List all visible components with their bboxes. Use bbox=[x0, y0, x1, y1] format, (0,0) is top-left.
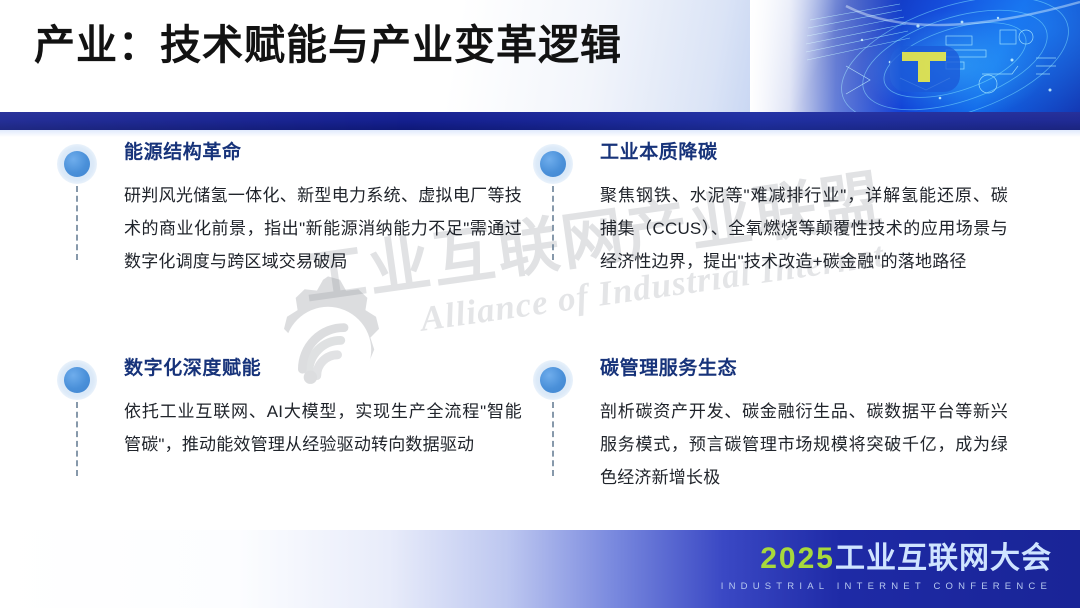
content-block-carbon-service-ecosystem: 碳管理服务生态 剖析碳资产开发、碳金融衍生品、碳数据平台等新兴服务模式，预言碳管… bbox=[528, 358, 1008, 494]
block-body: 碳管理服务生态 剖析碳资产开发、碳金融衍生品、碳数据平台等新兴服务模式，预言碳管… bbox=[600, 358, 1008, 494]
block-body: 数字化深度赋能 依托工业互联网、AI大模型，实现生产全流程"智能管碳"，推动能效… bbox=[124, 358, 522, 461]
block-body: 能源结构革命 研判风光储氢一体化、新型电力系统、虚拟电厂等技术的商业化前景，指出… bbox=[124, 142, 522, 278]
block-heading: 工业本质降碳 bbox=[600, 142, 1008, 165]
conference-name-en: INDUSTRIAL INTERNET CONFERENCE bbox=[721, 581, 1052, 592]
bullet-dot-icon bbox=[64, 367, 90, 393]
bullet-dashed-line bbox=[76, 402, 78, 476]
content-grid: 能源结构革命 研判风光储氢一体化、新型电力系统、虚拟电厂等技术的商业化前景，指出… bbox=[0, 130, 1080, 530]
conference-name-cn: 工业互联网大会 bbox=[835, 542, 1052, 575]
header-band-sheen bbox=[0, 112, 1080, 130]
block-heading: 碳管理服务生态 bbox=[600, 358, 1008, 381]
conference-logo: 2025工业互联网大会 INDUSTRIAL INTERNET CONFEREN… bbox=[721, 544, 1052, 592]
bullet-dashed-line bbox=[552, 402, 554, 476]
bullet-dot-icon bbox=[540, 367, 566, 393]
slide-root: 产业：技术赋能与产业变革逻辑 工业互联网产业联盟 Alliance of Ind… bbox=[0, 0, 1080, 608]
block-body: 工业本质降碳 聚焦钢铁、水泥等"难减排行业"，详解氢能还原、碳捕集（CCUS）、… bbox=[600, 142, 1008, 278]
artwork-left-fade bbox=[750, 0, 1080, 112]
slide-footer: 2025工业互联网大会 INDUSTRIAL INTERNET CONFEREN… bbox=[0, 530, 1080, 608]
content-block-energy-structure: 能源结构革命 研判风光储氢一体化、新型电力系统、虚拟电厂等技术的商业化前景，指出… bbox=[52, 142, 522, 278]
block-heading: 数字化深度赋能 bbox=[124, 358, 522, 381]
block-text: 聚焦钢铁、水泥等"难减排行业"，详解氢能还原、碳捕集（CCUS）、全氧燃烧等颠覆… bbox=[600, 179, 1008, 278]
bullet-dashed-line bbox=[552, 186, 554, 260]
slide-header: 产业：技术赋能与产业变革逻辑 bbox=[0, 0, 1080, 112]
bullet-dot-icon bbox=[64, 151, 90, 177]
header-tech-artwork bbox=[750, 0, 1080, 112]
block-text: 依托工业互联网、AI大模型，实现生产全流程"智能管碳"，推动能效管理从经验驱动转… bbox=[124, 395, 522, 461]
block-heading: 能源结构革命 bbox=[124, 142, 522, 165]
page-title: 产业：技术赋能与产业变革逻辑 bbox=[34, 22, 622, 69]
bullet-dot-icon bbox=[540, 151, 566, 177]
conference-logo-main: 2025工业互联网大会 bbox=[721, 544, 1052, 574]
content-block-digital-empowerment: 数字化深度赋能 依托工业互联网、AI大模型，实现生产全流程"智能管碳"，推动能效… bbox=[52, 358, 522, 461]
block-text: 剖析碳资产开发、碳金融衍生品、碳数据平台等新兴服务模式，预言碳管理市场规模将突破… bbox=[600, 395, 1008, 494]
bullet-dashed-line bbox=[76, 186, 78, 260]
conference-year: 2025 bbox=[760, 542, 835, 575]
content-block-industrial-decarbonization: 工业本质降碳 聚焦钢铁、水泥等"难减排行业"，详解氢能还原、碳捕集（CCUS）、… bbox=[528, 142, 1008, 278]
block-text: 研判风光储氢一体化、新型电力系统、虚拟电厂等技术的商业化前景，指出"新能源消纳能… bbox=[124, 179, 522, 278]
